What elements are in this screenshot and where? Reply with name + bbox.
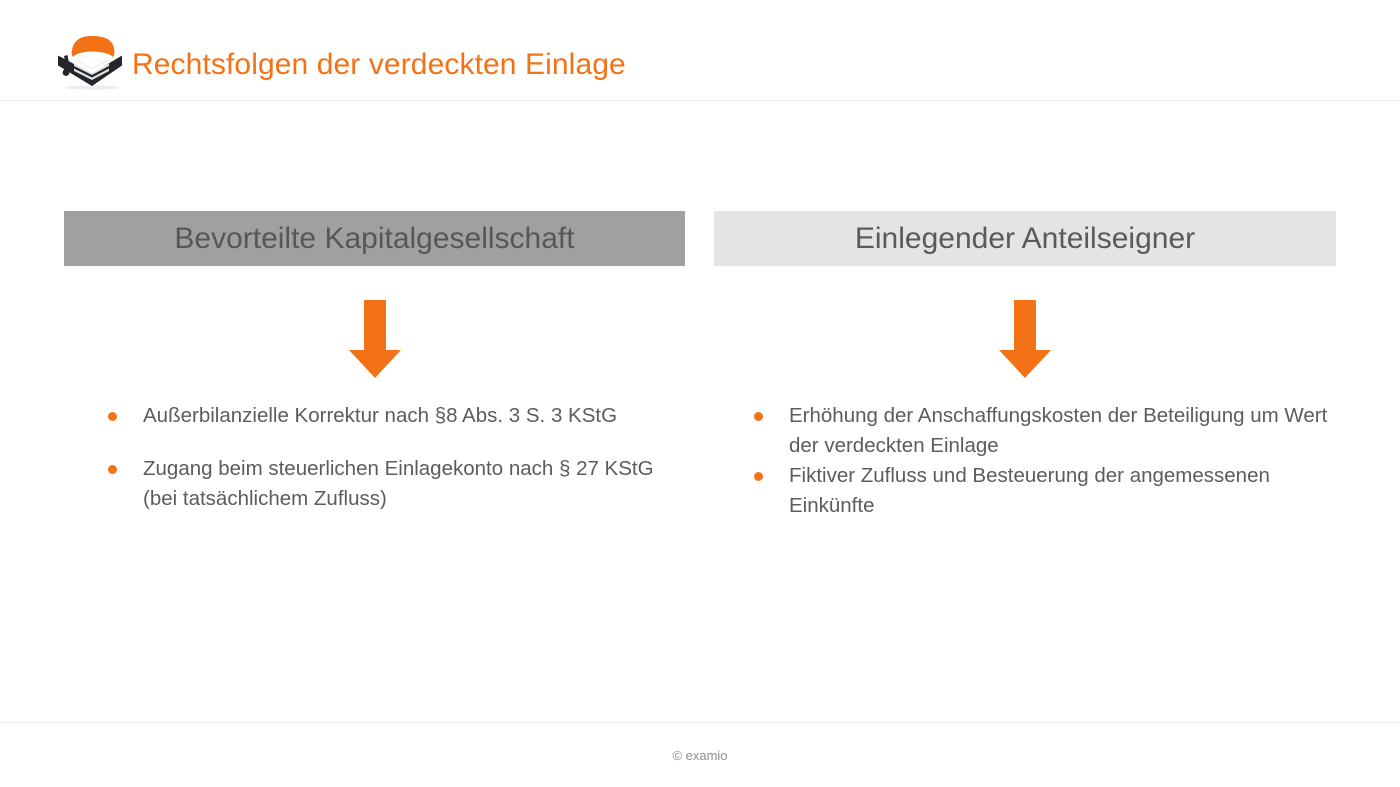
slide-footer: © examio [0,722,1400,787]
examio-book-logo-icon [52,34,126,90]
list-item-label: Fiktiver Zufluss und Besteuerung der ang… [789,461,1336,521]
arrow-down-icon [999,300,1051,378]
page-title: Rechtsfolgen der verdeckten Einlage [132,45,626,85]
copyright-label: © examio [672,748,727,764]
bullet-dot-icon [754,412,763,421]
slide-header: Rechtsfolgen der verdeckten Einlage [0,0,1400,101]
bullet-list-left: Außerbilanzielle Korrektur nach §8 Abs. … [84,401,684,537]
arrow-container-left [64,300,685,378]
content-columns: Bevorteilte Kapitalgesellschaft Außerbil… [0,101,1400,722]
list-item-label: Zugang beim steuerlichen Einlagekonto na… [143,454,684,514]
list-item-label: Erhöhung der Anschaffungskosten der Bete… [789,401,1336,461]
slide: Rechtsfolgen der verdeckten Einlage Bevo… [0,0,1400,787]
bullet-dot-icon [754,472,763,481]
list-item: Zugang beim steuerlichen Einlagekonto na… [84,454,684,514]
bullet-dot-icon [108,412,117,421]
arrow-container-right [714,300,1336,378]
arrow-down-icon [349,300,401,378]
list-item: Außerbilanzielle Korrektur nach §8 Abs. … [84,401,684,431]
bullet-list-right: Erhöhung der Anschaffungskosten der Bete… [730,401,1336,521]
column-heading-bar-left: Bevorteilte Kapitalgesellschaft [64,211,685,266]
list-item: Fiktiver Zufluss und Besteuerung der ang… [730,461,1336,521]
list-item: Erhöhung der Anschaffungskosten der Bete… [730,401,1336,461]
column-heading-bar-right: Einlegender Anteilseigner [714,211,1336,266]
column-heading-label-left: Bevorteilte Kapitalgesellschaft [174,222,574,256]
bullet-dot-icon [108,465,117,474]
column-heading-label-right: Einlegender Anteilseigner [855,222,1195,256]
list-item-label: Außerbilanzielle Korrektur nach §8 Abs. … [143,401,684,431]
